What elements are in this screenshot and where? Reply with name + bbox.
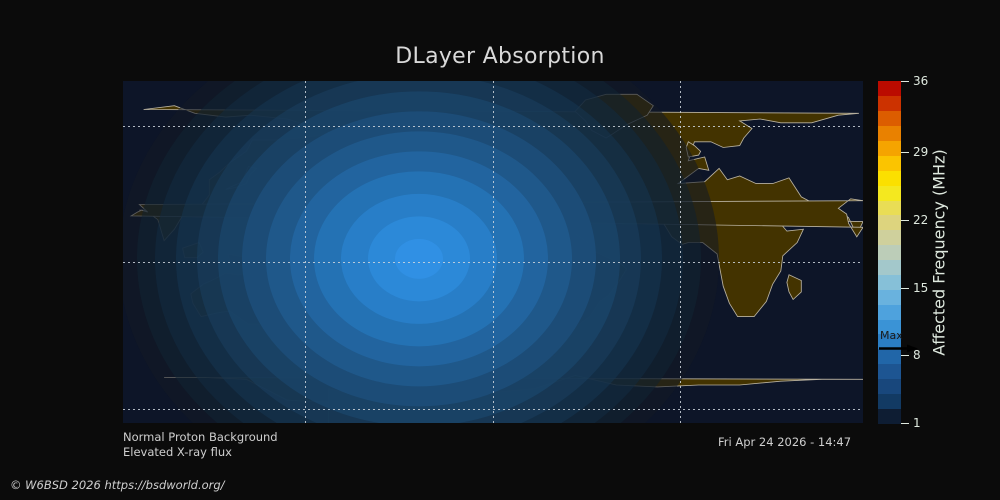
colorbar-tick-label: 1	[913, 416, 921, 430]
colorbar-tick-mark	[901, 423, 909, 424]
colorbar-segment	[878, 245, 901, 260]
colorbar-segment	[878, 378, 901, 393]
colorbar-tick-mark	[901, 152, 909, 153]
colorbar-segment	[878, 96, 901, 111]
colorbar-segment	[878, 81, 901, 96]
absorption-overlay	[123, 81, 719, 423]
colorbar-segment	[878, 364, 901, 379]
app-root: DLayer Absorption Max 3629221581	[0, 0, 1000, 500]
colorbar-tick-label: 8	[913, 348, 921, 362]
annotation-proton-background: Normal Proton Background	[123, 430, 278, 444]
colorbar-segment	[878, 274, 901, 289]
colorbar-segment	[878, 126, 901, 141]
timestamp: Fri Apr 24 2026 - 14:47	[718, 435, 851, 449]
colorbar-segment	[878, 408, 901, 423]
colorbar-segment	[878, 289, 901, 304]
colorbar-tick-label: 36	[913, 74, 928, 88]
colorbar-segment	[878, 259, 901, 274]
colorbar-segment	[878, 393, 901, 408]
annotation-xray-flux: Elevated X-ray flux	[123, 445, 232, 459]
map-canvas	[123, 81, 863, 423]
colorbar-segment	[878, 304, 901, 319]
colorbar-segment	[878, 215, 901, 230]
colorbar-tick-mark	[901, 288, 909, 289]
colorbar-tick-label: 29	[913, 145, 928, 159]
world-map[interactable]	[123, 81, 863, 423]
colorbar-segment	[878, 185, 901, 200]
colorbar-segment	[878, 200, 901, 215]
colorbar-max-label: Max	[880, 329, 903, 342]
colorbar-segment	[878, 140, 901, 155]
colorbar-segment	[878, 170, 901, 185]
page-title: DLayer Absorption	[0, 44, 1000, 69]
colorbar-gradient[interactable]	[878, 81, 901, 423]
copyright-footer: © W6BSD 2026 https://bsdworld.org/	[10, 478, 225, 492]
colorbar-axis-label-text: Affected Frequency (MHz)	[930, 149, 949, 355]
colorbar-tick-mark	[901, 220, 909, 221]
colorbar-tick-mark	[901, 81, 909, 82]
colorbar-tick-label: 15	[913, 281, 928, 295]
colorbar-segment	[878, 230, 901, 245]
colorbar-segment	[878, 155, 901, 170]
colorbar-tick-label: 22	[913, 213, 928, 227]
colorbar-tick-mark	[901, 355, 909, 356]
colorbar-segment	[878, 111, 901, 126]
colorbar-axis-label: Affected Frequency (MHz)	[927, 81, 951, 423]
